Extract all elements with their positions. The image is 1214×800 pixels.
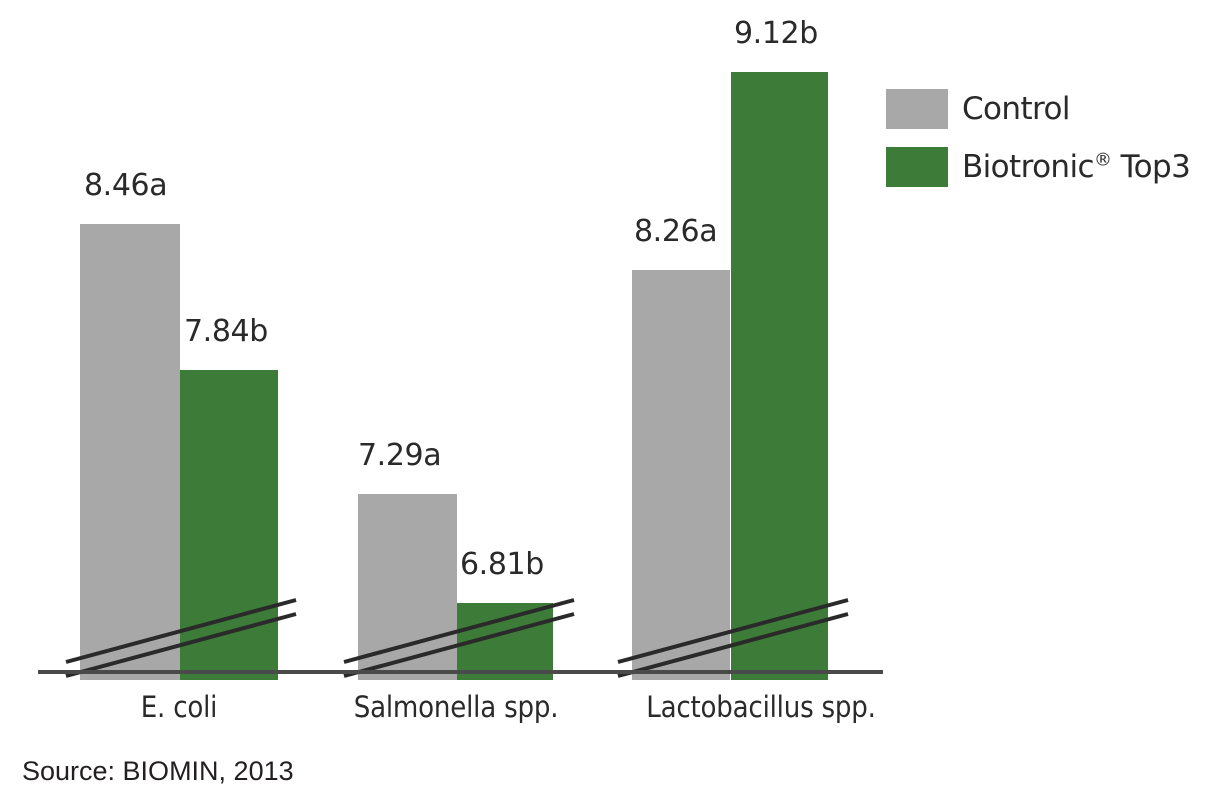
legend-label-biotronic-main: Biotronic: [962, 149, 1094, 185]
legend-label-control: Control: [962, 91, 1070, 127]
legend-label-biotronic-tail: Top3: [1111, 149, 1190, 185]
bar-control-e-coli: [80, 224, 180, 680]
x-axis-label-e-coli: E. coli: [78, 690, 280, 724]
legend-item-biotronic-top3: Biotronic® Top3: [886, 138, 1206, 196]
x-axis-category-labels: E. coli Salmonella spp. Lactobacillus sp…: [0, 690, 900, 740]
bar-value-treated-salmonella: 6.81b: [460, 547, 544, 582]
bar-value-control-lactobacillus: 8.26a: [634, 214, 717, 249]
bar-value-control-e-coli: 8.46a: [84, 168, 167, 203]
plot-area: 8.46a 7.84b 7.29a 6.81b 8.26a 9.12b E. c…: [0, 0, 900, 680]
bar-treated-lactobacillus: [731, 72, 828, 680]
bar-treated-salmonella: [457, 603, 553, 680]
legend-swatch-biotronic-top3-icon: [886, 147, 948, 187]
legend-item-control: Control: [886, 80, 1206, 138]
x-axis-line: [38, 670, 883, 674]
bar-value-treated-lactobacillus: 9.12b: [734, 16, 818, 51]
bar-control-lactobacillus: [632, 270, 730, 680]
source-note: Source: BIOMIN, 2013: [22, 756, 294, 787]
bar-control-salmonella: [358, 494, 457, 680]
bar-value-control-salmonella: 7.29a: [358, 438, 441, 473]
legend-label-biotronic-top3: Biotronic® Top3: [962, 149, 1190, 185]
chart-legend: Control Biotronic® Top3: [886, 80, 1206, 196]
x-axis-label-salmonella: Salmonella spp.: [300, 690, 612, 724]
registered-trademark-icon: ®: [1094, 150, 1111, 171]
legend-swatch-control-icon: [886, 89, 948, 129]
bar-value-treated-e-coli: 7.84b: [184, 314, 268, 349]
bar-treated-e-coli: [180, 370, 278, 680]
x-axis-label-lactobacillus: Lactobacillus spp.: [610, 690, 912, 724]
bar-chart-figure: 8.46a 7.84b 7.29a 6.81b 8.26a 9.12b E. c…: [0, 0, 1214, 800]
